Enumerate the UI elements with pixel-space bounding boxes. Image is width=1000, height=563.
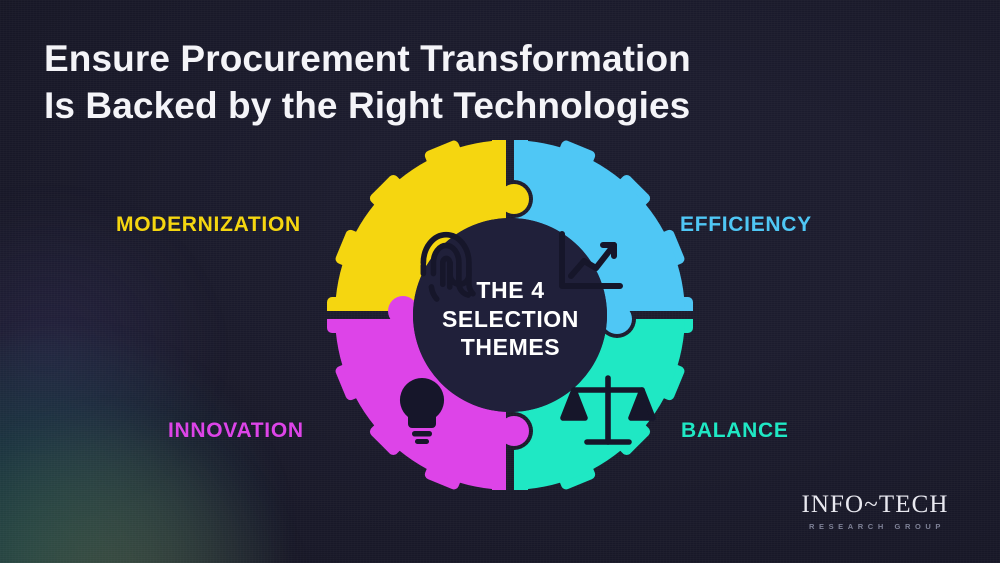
slide-canvas: Ensure Procurement Transformation Is Bac…: [0, 0, 1000, 563]
quadrant-label-innovation: INNOVATION: [168, 419, 304, 443]
quadrant-label-balance: BALANCE: [681, 419, 789, 443]
gear-puzzle-diagram: [300, 140, 720, 490]
page-title: Ensure Procurement Transformation Is Bac…: [44, 36, 804, 129]
quadrant-label-efficiency: EFFICIENCY: [680, 213, 812, 237]
logo-tagline: RESEARCH GROUP: [800, 522, 950, 531]
logo-wordmark: INFO~TECH: [800, 492, 950, 517]
info-tech-logo: INFO~TECH RESEARCH GROUP: [800, 492, 950, 531]
quadrant-label-modernization: MODERNIZATION: [116, 213, 301, 237]
